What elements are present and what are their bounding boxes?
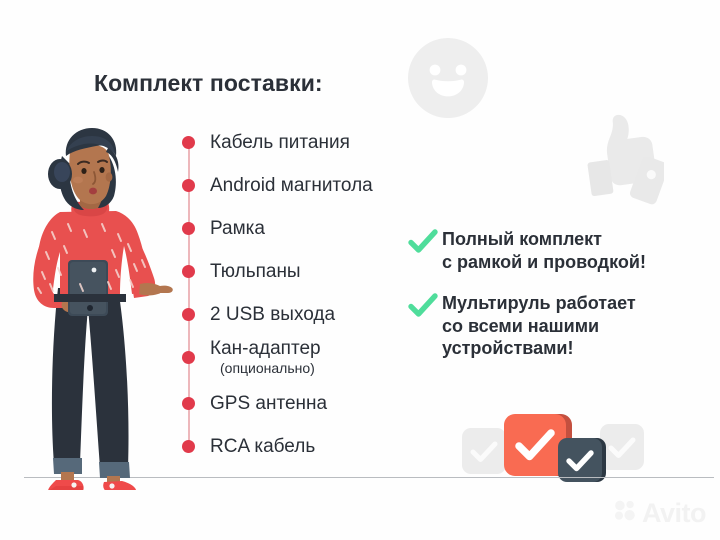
list-item-label: GPS антенна — [210, 393, 327, 415]
bullet-icon — [182, 308, 195, 321]
benefits-list: Полный комплект с рамкой и проводкой! Му… — [408, 228, 708, 374]
bullet-icon — [182, 222, 195, 235]
bullet-icon — [182, 265, 195, 278]
checkbox-red — [504, 414, 566, 476]
checkbox-cluster-decoration — [462, 408, 642, 488]
avito-wordmark: Avito — [642, 500, 706, 527]
benefit-item: Мультируль работает со всеми нашими устр… — [408, 292, 708, 361]
bullet-icon — [182, 179, 195, 192]
benefit-line: Полный комплект — [442, 228, 646, 251]
avito-watermark: Avito — [613, 498, 706, 528]
checkbox-gray-right — [600, 424, 644, 470]
benefit-line: со всеми нашими — [442, 315, 636, 338]
checkbox-gray-left — [462, 428, 506, 474]
green-check-icon — [408, 293, 438, 319]
list-item-label: RCA кабель — [210, 436, 315, 458]
smiley-face-icon — [406, 36, 490, 120]
bullet-icon — [182, 440, 195, 453]
list-item-sublabel: (опционально) — [220, 360, 321, 376]
bullet-icon — [182, 136, 195, 149]
promo-canvas: Комплект поставки: Кабель питания Androi… — [0, 0, 720, 540]
woman-pointing-with-tablet-illustration — [8, 112, 176, 490]
checkbox-dark — [558, 438, 602, 482]
list-item-label: Кан-адаптер — [210, 338, 321, 360]
bullet-icon — [182, 351, 195, 364]
list-item-label: Android магнитола — [210, 175, 373, 197]
list-item-label: Кабель питания — [210, 132, 350, 154]
bullet-icon — [182, 397, 195, 410]
list-item-label: 2 USB выхода — [210, 304, 335, 326]
benefit-line: с рамкой и проводкой! — [442, 251, 646, 274]
list-item-label: Рамка — [210, 218, 265, 240]
green-check-icon — [408, 229, 438, 255]
avito-logo-icon — [613, 499, 637, 528]
benefit-item: Полный комплект с рамкой и проводкой! — [408, 228, 708, 274]
page-title: Комплект поставки: — [94, 70, 323, 97]
benefit-line: устройствами! — [442, 337, 636, 360]
list-item-label: Тюльпаны — [210, 261, 301, 283]
thumbs-up-icon — [578, 112, 664, 206]
benefit-line: Мультируль работает — [442, 292, 636, 315]
